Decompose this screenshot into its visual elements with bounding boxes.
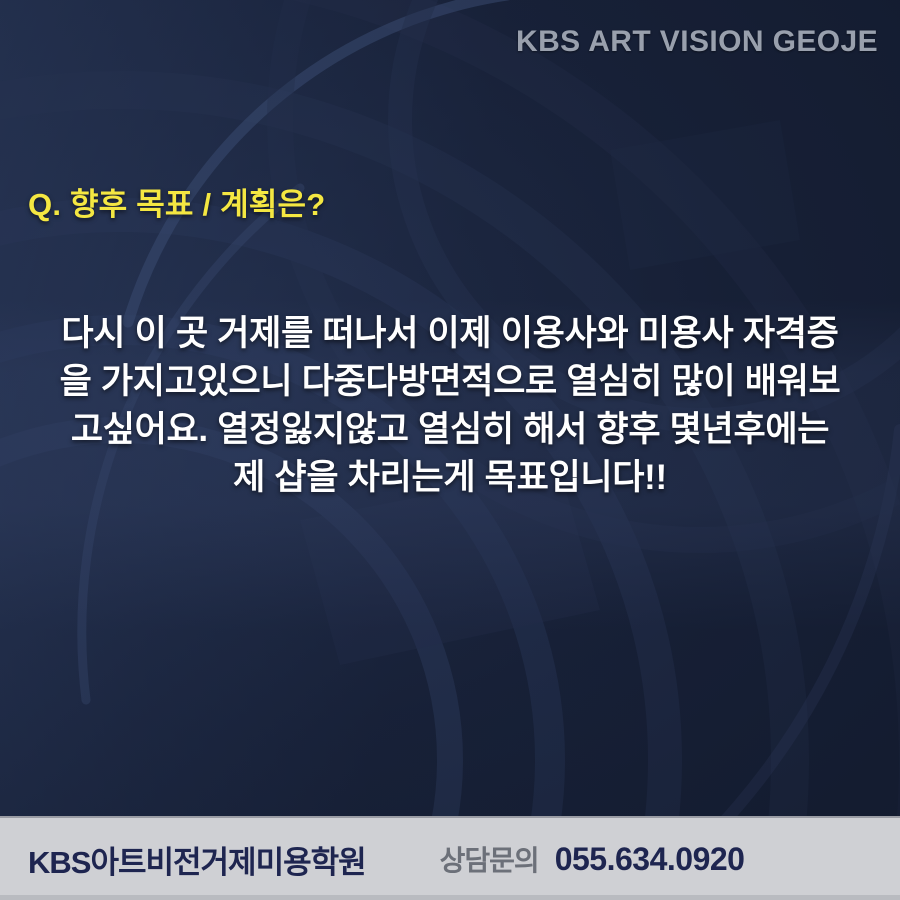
brand-title: KBS ART VISION GEOJE — [516, 25, 878, 59]
answer-line: 을 가지고있으니 다중다방면적으로 열심히 많이 배워보 — [12, 358, 888, 406]
answer-line: 고싶어요. 열정잃지않고 열심히 해서 향후 몇년후에는 — [12, 406, 888, 454]
footer-bottom-edge — [0, 895, 900, 900]
answer-text-block: 다시 이 곳 거제를 떠나서 이제 이용사와 미용사 자격증 을 가지고있으니 … — [12, 310, 888, 502]
contact-group: 상담문의 055.634.0920 — [440, 839, 745, 879]
answer-line: 다시 이 곳 거제를 떠나서 이제 이용사와 미용사 자격증 — [12, 310, 888, 358]
academy-name: KBS아트비전거제미용학원 — [28, 837, 366, 882]
phone-number[interactable]: 055.634.0920 — [555, 841, 745, 878]
header-bar: KBS ART VISION GEOJE — [0, 0, 900, 84]
promo-card: KBS ART VISION GEOJE Q. 향후 목표 / 계획은? 다시 … — [0, 0, 900, 900]
answer-line: 제 샵을 차리는게 목표입니다!! — [12, 454, 888, 502]
contact-label: 상담문의 — [440, 839, 539, 879]
question-text: Q. 향후 목표 / 계획은? — [28, 179, 325, 224]
footer-bar: KBS아트비전거제미용학원 상담문의 055.634.0920 — [0, 816, 900, 900]
